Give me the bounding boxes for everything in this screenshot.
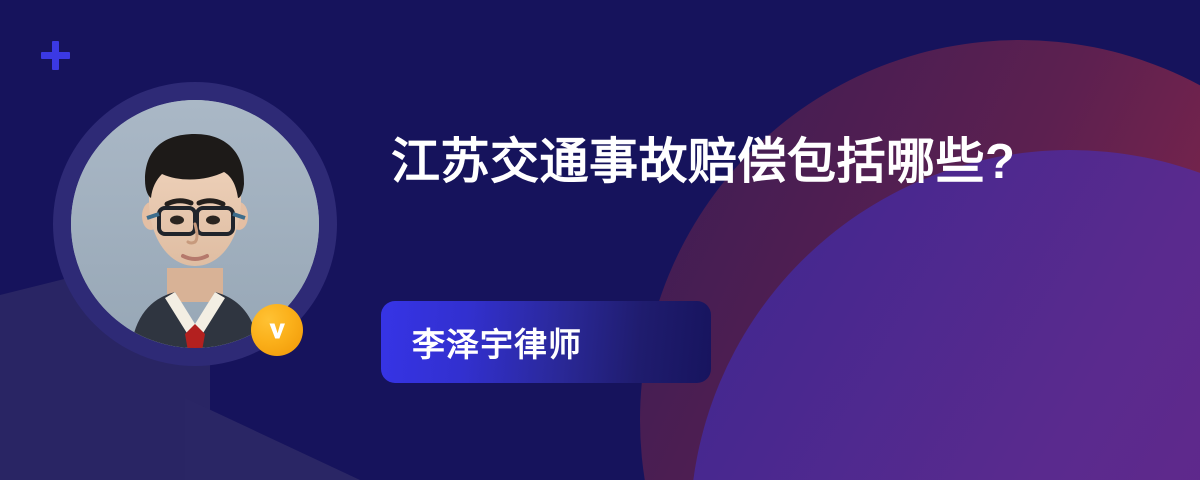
left-block-shape (0, 355, 190, 480)
plus-icon (40, 40, 70, 70)
triangle-shape (185, 398, 360, 480)
lawyer-name-button[interactable]: 李泽宇律师 (381, 301, 711, 383)
lawyer-question-banner: 江苏交通事故赔偿包括哪些? 李泽宇律师 (0, 0, 1200, 480)
check-v-glyph (262, 315, 292, 345)
page-title: 江苏交通事故赔偿包括哪些? (391, 126, 1091, 199)
avatar (53, 82, 337, 366)
verified-badge-icon (251, 304, 303, 356)
